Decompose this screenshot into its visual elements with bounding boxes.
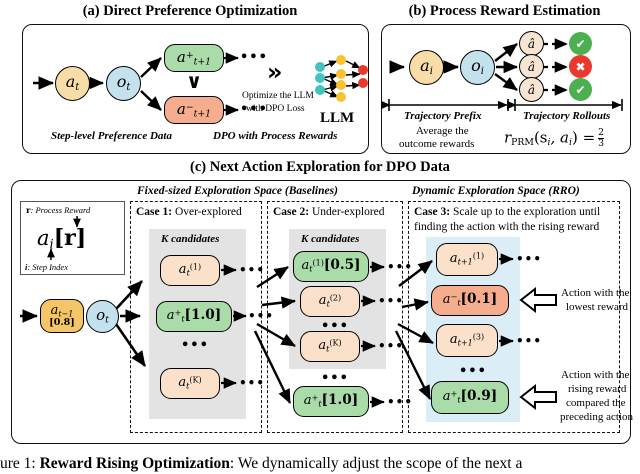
case3-trail-2: ••• <box>516 334 542 348</box>
trajectory-prefix-label: Trajectory Prefix <box>404 110 481 122</box>
prm-formula: rPRM(si, ai) =23 <box>504 128 604 149</box>
dots-positive: ••• <box>240 50 268 65</box>
node-rollout-3: â <box>519 77 544 102</box>
node-action-i: ai <box>409 50 444 85</box>
panel-b-title: (b) Process Reward Estimation <box>382 3 627 20</box>
node-action-negative: a−t+1 <box>164 96 224 124</box>
case3-arrows <box>12 181 630 443</box>
llm-label: LLM <box>320 110 354 127</box>
outcome-check-3: ✔ <box>569 78 592 101</box>
average-label-line2: outcome rewards <box>399 138 474 150</box>
case3-trail-1: ••• <box>516 252 542 266</box>
node-obs-i: oi <box>460 50 495 85</box>
panel-c: Fixed-sized Exploration Space (Baselines… <box>11 180 631 444</box>
node-obs-t: ot <box>106 66 141 101</box>
case3-annotation2-line2: rising reward <box>568 383 626 395</box>
optimize-arrow-icon: » <box>267 58 283 86</box>
node-action-t: at <box>55 66 90 101</box>
node-rollout-2: â <box>519 54 544 79</box>
figure-caption: ure 1: Reward Rising Optimization: We dy… <box>0 455 522 473</box>
case3-annotation2-line1: Action with the <box>561 369 629 381</box>
caption-prefix: ure 1: <box>0 455 36 472</box>
panel-a-footer-right: DPO with Process Rewards <box>213 130 337 142</box>
caption-rest: : We dynamically adjust the scope of the… <box>230 455 522 472</box>
caption-title: Reward Rising Optimization <box>40 455 230 472</box>
outcome-check-1: ✔ <box>569 32 592 55</box>
node-rollout-1: â <box>519 31 544 56</box>
trajectory-rollouts-label: Trajectory Rollouts <box>523 110 610 122</box>
panel-a: at ot a+t+1 a−t+1 ••• ••• ∨ » Optimize t… <box>22 24 369 154</box>
preference-chevron: ∨ <box>186 69 202 93</box>
optimize-label-line2: with DPO Loss <box>246 104 305 114</box>
average-label-line1: Average the <box>416 125 469 137</box>
outcome-cross-2: ✖ <box>569 55 592 78</box>
case3-annotation1-line1: Action with the <box>561 287 629 299</box>
case3-annotation1-line2: lowest reward <box>566 301 628 313</box>
case3-annotation2-line3: compared the <box>566 397 626 409</box>
panel-a-footer-left: Step-level Preference Data <box>51 130 172 142</box>
optimize-label-line1: Optimize the LLM <box>242 91 314 101</box>
case3-annotation2-line4: preceding action <box>560 411 633 423</box>
node-action-positive: a+t+1 <box>164 44 224 72</box>
panel-a-title: (a) Direct Preference Optimization <box>20 3 360 20</box>
panel-c-title: (c) Next Action Exploration for DPO Data <box>0 159 640 176</box>
panel-b: ai oi â â â ✔ ✖ ✔ Trajectory Prefix Traj… <box>381 24 631 154</box>
